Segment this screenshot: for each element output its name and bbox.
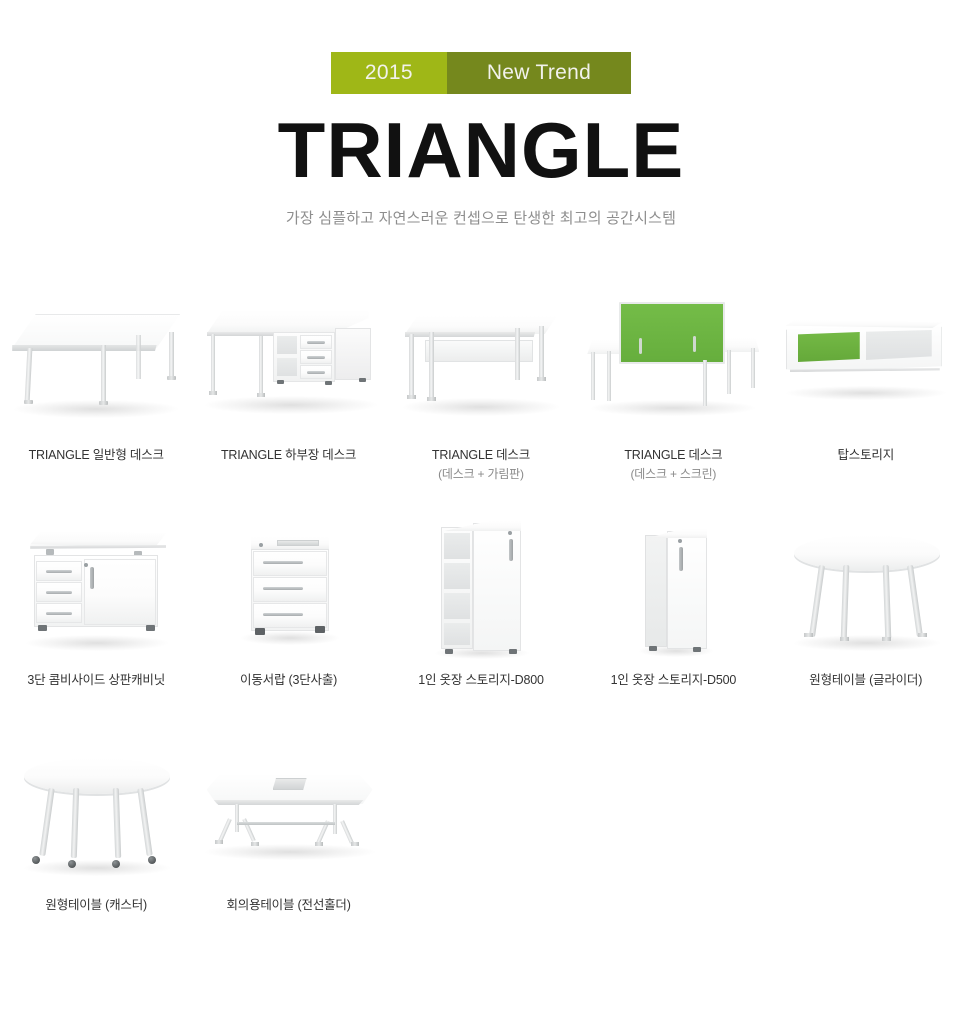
product-image (6, 738, 186, 888)
product-name: TRIANGLE 데스크 (432, 448, 530, 462)
round-table-glider-icon (776, 513, 956, 663)
wardrobe-storage-d500-icon (583, 513, 763, 663)
product-name: 원형테이블 (캐스터) (45, 898, 147, 912)
product-row: 원형테이블 (캐스터) (0, 738, 962, 963)
product-image (6, 513, 186, 663)
desk-plain-icon (6, 288, 186, 438)
product-card[interactable]: 1인 옷장 스토리지-D800 (385, 513, 577, 738)
product-image (583, 513, 763, 663)
conference-table-cable-holder-icon (199, 738, 379, 888)
product-caption: 회의용테이블 (전선홀더) (226, 896, 350, 915)
product-card[interactable]: 3단 콤비사이드 상판캐비닛 (0, 513, 192, 738)
product-row: 3단 콤비사이드 상판캐비닛 (0, 513, 962, 738)
product-caption: 탑스토리지 (838, 446, 895, 465)
badge-tag-label: New Trend (447, 52, 631, 94)
mobile-pedestal-icon (199, 513, 379, 663)
product-card[interactable]: TRIANGLE 데스크 (데스크 + 가림판) (385, 288, 577, 513)
product-caption: 이동서랍 (3단사출) (240, 671, 337, 690)
top-storage-icon (776, 288, 956, 438)
product-caption: 원형테이블 (글라이더) (809, 671, 922, 690)
wardrobe-storage-d800-icon (391, 513, 571, 663)
product-image (391, 288, 571, 438)
product-image (776, 513, 956, 663)
product-image (6, 288, 186, 438)
product-image (776, 288, 956, 438)
product-card[interactable]: 1인 옷장 스토리지-D500 (577, 513, 769, 738)
product-caption: 3단 콤비사이드 상판캐비닛 (27, 671, 165, 690)
product-card-empty (385, 738, 577, 963)
product-image (583, 288, 763, 438)
product-caption: TRIANGLE 하부장 데스크 (221, 446, 356, 465)
product-name: 회의용테이블 (전선홀더) (226, 898, 350, 912)
page-subtitle: 가장 심플하고 자연스러운 컨셉으로 탄생한 최고의 공간시스템 (0, 207, 962, 228)
product-card[interactable]: 이동서랍 (3단사출) (192, 513, 384, 738)
product-card-empty (770, 738, 962, 963)
product-card[interactable]: 원형테이블 (캐스터) (0, 738, 192, 963)
product-card[interactable]: TRIANGLE 일반형 데스크 (0, 288, 192, 513)
product-name: TRIANGLE 하부장 데스크 (221, 448, 356, 462)
product-name: 3단 콤비사이드 상판캐비닛 (27, 673, 165, 687)
product-card[interactable]: 원형테이블 (글라이더) (770, 513, 962, 738)
product-subname: (데스크 + 스크린) (624, 465, 722, 484)
product-caption: 1인 옷장 스토리지-D500 (611, 671, 736, 690)
catalog-page: 2015 New Trend TRIANGLE 가장 심플하고 자연스러운 컨셉… (0, 0, 962, 1020)
product-image (199, 288, 379, 438)
product-name: TRIANGLE 데스크 (624, 448, 722, 462)
product-image (199, 513, 379, 663)
product-caption: TRIANGLE 일반형 데스크 (29, 446, 164, 465)
product-caption: TRIANGLE 데스크 (데스크 + 가림판) (432, 446, 530, 484)
product-card-empty (577, 738, 769, 963)
desk-with-modesty-panel-icon (391, 288, 571, 438)
desk-l-shaped-credenza-icon (199, 288, 379, 438)
combi-side-cabinet-icon (6, 513, 186, 663)
hero-header: 2015 New Trend TRIANGLE 가장 심플하고 자연스러운 컨셉… (0, 0, 962, 228)
product-name: 원형테이블 (글라이더) (809, 673, 922, 687)
product-caption: 1인 옷장 스토리지-D800 (418, 671, 543, 690)
product-image (199, 738, 379, 888)
product-subname: (데스크 + 가림판) (432, 465, 530, 484)
product-name: 이동서랍 (3단사출) (240, 673, 337, 687)
product-name: 1인 옷장 스토리지-D500 (611, 673, 736, 687)
product-grid: TRIANGLE 일반형 데스크 (0, 288, 962, 963)
product-card[interactable]: TRIANGLE 데스크 (데스크 + 스크린) (577, 288, 769, 513)
product-caption: TRIANGLE 데스크 (데스크 + 스크린) (624, 446, 722, 484)
product-name: 1인 옷장 스토리지-D800 (418, 673, 543, 687)
product-image (391, 513, 571, 663)
product-name: 탑스토리지 (838, 448, 895, 462)
trend-badge: 2015 New Trend (331, 52, 631, 94)
product-card[interactable]: 탑스토리지 (770, 288, 962, 513)
desk-with-green-screen-icon (583, 288, 763, 438)
product-caption: 원형테이블 (캐스터) (45, 896, 147, 915)
product-card[interactable]: 회의용테이블 (전선홀더) (192, 738, 384, 963)
page-title: TRIANGLE (0, 111, 962, 189)
product-card[interactable]: TRIANGLE 하부장 데스크 (192, 288, 384, 513)
product-name: TRIANGLE 일반형 데스크 (29, 448, 164, 462)
product-row: TRIANGLE 일반형 데스크 (0, 288, 962, 513)
badge-year-label: 2015 (331, 52, 447, 94)
round-table-caster-icon (6, 738, 186, 888)
